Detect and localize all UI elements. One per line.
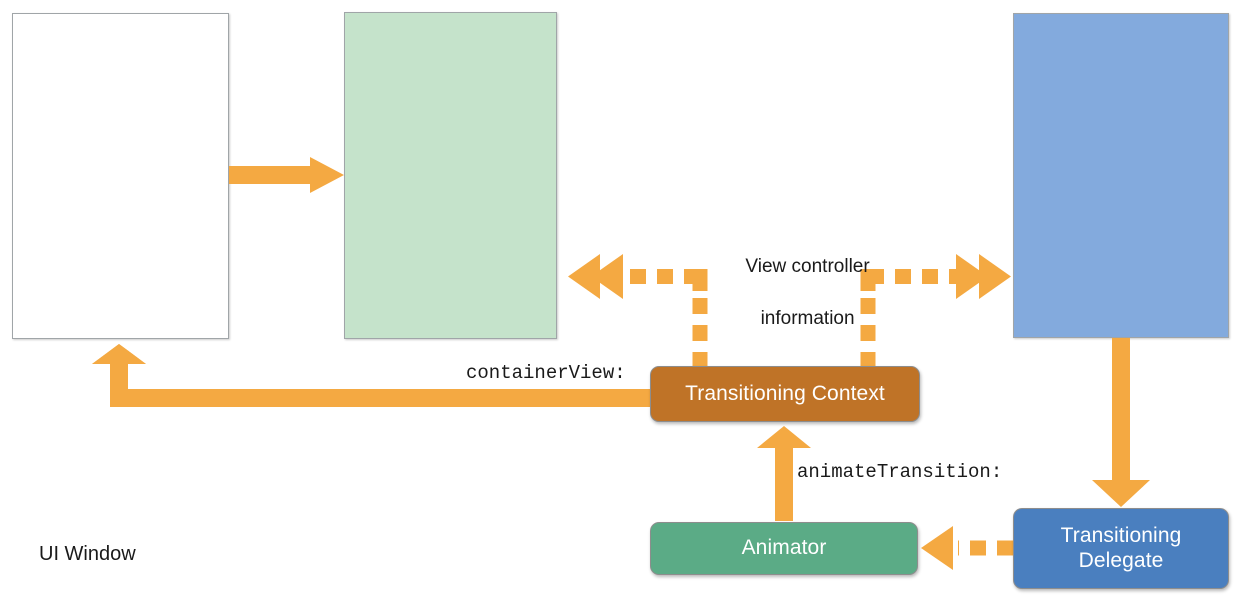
- node-transitioning-delegate[interactable]: Transitioning Delegate: [1013, 508, 1229, 589]
- label-view-controller-information-line1: View controller: [745, 256, 869, 277]
- label-ui-window: UI Window: [39, 543, 136, 566]
- screen-window-root[interactable]: [12, 13, 229, 339]
- node-transitioning-delegate-label-line2: Delegate: [1079, 549, 1164, 572]
- node-animator[interactable]: Animator: [650, 522, 918, 575]
- connector-source-to-delegate[interactable]: [1092, 338, 1150, 507]
- label-container-view: containerView:: [466, 362, 626, 384]
- label-view-controller-information-line2: information: [761, 308, 855, 329]
- screen-presented-view[interactable]: [344, 12, 557, 339]
- node-transitioning-context-label: Transitioning Context: [685, 382, 885, 406]
- connector-context-to-presented[interactable]: [568, 254, 708, 368]
- label-view-controller-information: View controller information: [722, 228, 872, 358]
- node-transitioning-delegate-label: Transitioning Delegate: [1061, 524, 1182, 572]
- connector-window-to-presented[interactable]: [229, 157, 344, 193]
- node-animator-label: Animator: [742, 536, 827, 560]
- connector-delegate-to-animator[interactable]: [921, 526, 1013, 570]
- connector-context-to-source[interactable]: [861, 254, 1012, 368]
- node-transitioning-delegate-label-line1: Transitioning: [1061, 524, 1182, 547]
- node-transitioning-context[interactable]: Transitioning Context: [650, 366, 920, 422]
- label-animate-transition: animateTransition:: [797, 461, 1002, 483]
- diagram-canvas: Transitioning Context Animator Transitio…: [0, 0, 1240, 604]
- screen-source-view[interactable]: [1013, 13, 1229, 338]
